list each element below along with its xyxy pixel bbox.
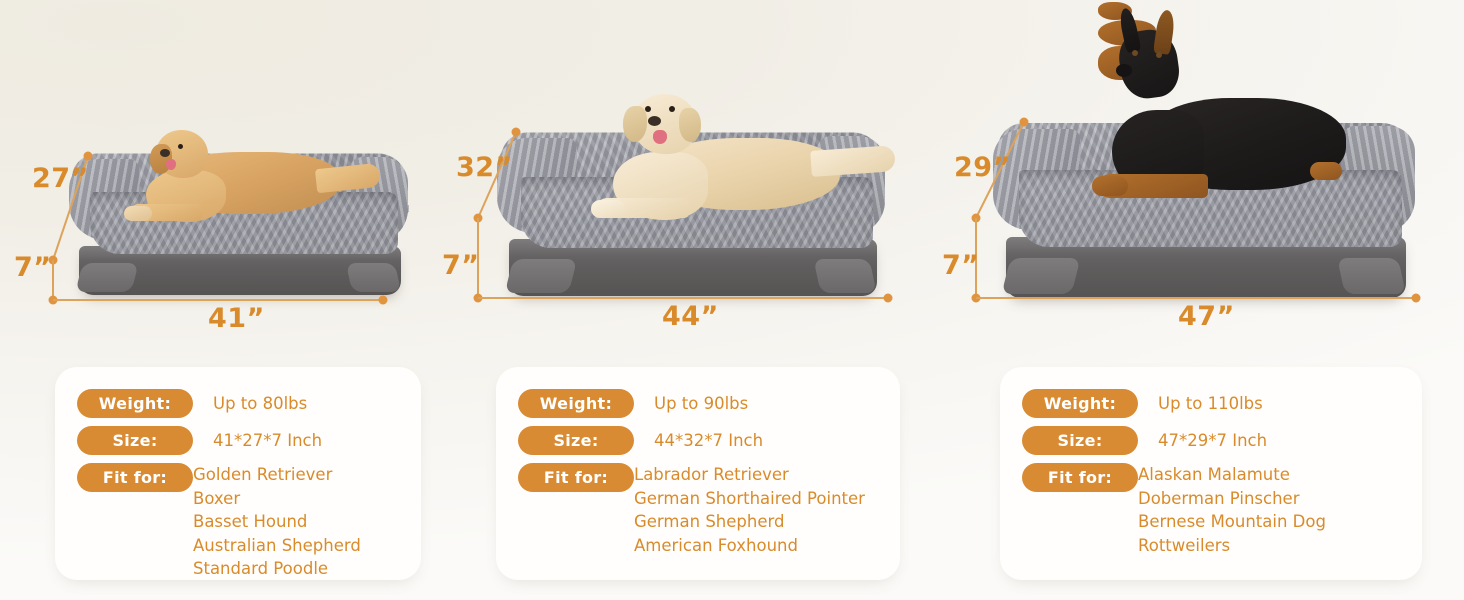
fit-for-row: Fit for: Labrador Retriever German Short… [518, 463, 890, 557]
weight-row: Weight: Up to 90lbs [518, 389, 890, 418]
dimension-label-height: 7” [942, 250, 980, 281]
breed-item: Doberman Pinscher [1138, 487, 1326, 511]
dog-rear-paw [1310, 162, 1342, 180]
bed-front-rim-left [75, 263, 138, 292]
bed-front-rim-left [1002, 258, 1081, 294]
dog-doberman-pinscher [1098, 2, 1388, 222]
size-value: 47*29*7 Inch [1158, 426, 1267, 453]
breed-item: Golden Retriever [193, 463, 361, 487]
width-line [53, 299, 383, 301]
breed-item: Standard Poodle [193, 557, 361, 581]
dimension-label-height: 7” [14, 252, 52, 283]
width-line [478, 297, 888, 299]
dimension-dot-width-right [379, 296, 388, 305]
product-size-infographic: 27” 7” 41” [0, 0, 1464, 600]
size-pill-label: Size: [1022, 426, 1138, 455]
dog-eye-left [645, 106, 651, 112]
breed-item: American Foxhound [634, 534, 865, 558]
breed-item: Alaskan Malamute [1138, 463, 1326, 487]
dimension-label-height: 7” [442, 250, 480, 281]
weight-pill-label: Weight: [1022, 389, 1138, 418]
product-panel-xlarge: 32” 7” 44” [440, 0, 940, 350]
fit-for-row: Fit for: Alaskan Malamute Doberman Pinsc… [1022, 463, 1412, 557]
dog-nose [1116, 64, 1132, 77]
fit-for-pill-label: Fit for: [77, 463, 193, 492]
breed-item: Labrador Retriever [634, 463, 865, 487]
dog-paw [124, 206, 152, 221]
weight-value: Up to 80lbs [213, 389, 307, 416]
height-line [477, 218, 479, 298]
dog-tongue [166, 159, 176, 170]
fit-for-pill-label: Fit for: [518, 463, 634, 492]
info-card-xlarge: Weight: Up to 90lbs Size: 44*32*7 Inch F… [496, 367, 900, 580]
info-card-large: Weight: Up to 80lbs Size: 41*27*7 Inch F… [55, 367, 421, 580]
breed-item: Australian Shepherd [193, 534, 361, 558]
bed-front-rim-left [505, 259, 577, 293]
dimension-dot-height-bottom [49, 296, 58, 305]
weight-value: Up to 110lbs [1158, 389, 1263, 416]
dog-paw [1092, 176, 1128, 196]
product-panel-jumbo: 29” 7” 47” [940, 0, 1464, 350]
dimension-dot-height-bottom [474, 294, 483, 303]
weight-pill-label: Weight: [77, 389, 193, 418]
dog-eye [178, 144, 183, 149]
weight-row: Weight: Up to 80lbs [77, 389, 411, 418]
breed-list: Alaskan Malamute Doberman Pinscher Berne… [1138, 463, 1326, 557]
bed-front-rim-right [813, 259, 876, 293]
dog-tail [810, 145, 896, 177]
dog-golden-retriever [120, 122, 370, 232]
height-line [975, 218, 977, 298]
dog-ear-right [679, 108, 701, 142]
bed-front-rim-right [345, 263, 400, 292]
info-card-jumbo: Weight: Up to 110lbs Size: 47*29*7 Inch … [1000, 367, 1422, 580]
dimension-dot-corner [49, 256, 58, 265]
breed-item: German Shepherd [634, 510, 865, 534]
size-row: Size: 47*29*7 Inch [1022, 426, 1412, 455]
size-value: 44*32*7 Inch [654, 426, 763, 453]
breed-item: German Shorthaired Pointer [634, 487, 865, 511]
fit-for-pill-label: Fit for: [1022, 463, 1138, 492]
size-row: Size: 41*27*7 Inch [77, 426, 411, 455]
breed-item: Basset Hound [193, 510, 361, 534]
dog-paw [591, 200, 625, 218]
dimension-label-width: 47” [1178, 301, 1235, 332]
weight-row: Weight: Up to 110lbs [1022, 389, 1412, 418]
breed-list: Labrador Retriever German Shorthaired Po… [634, 463, 865, 557]
dog-cream-golden-retriever [595, 86, 895, 236]
breed-item: Boxer [193, 487, 361, 511]
dimension-label-width: 44” [662, 301, 719, 332]
dog-eye-left [1132, 50, 1138, 56]
dimension-dot-corner [474, 214, 483, 223]
weight-value: Up to 90lbs [654, 389, 748, 416]
breed-item: Rottweilers [1138, 534, 1326, 558]
dog-nose [648, 116, 661, 126]
dog-eye-right [669, 106, 675, 112]
dog-eye-right [1156, 52, 1162, 58]
fit-for-row: Fit for: Golden Retriever Boxer Basset H… [77, 463, 411, 581]
product-panel-large: 27” 7” 41” [0, 0, 470, 350]
size-value: 41*27*7 Inch [213, 426, 322, 453]
size-row: Size: 44*32*7 Inch [518, 426, 890, 455]
weight-pill-label: Weight: [518, 389, 634, 418]
breed-list: Golden Retriever Boxer Basset Hound Aust… [193, 463, 361, 581]
dog-nose [160, 149, 170, 157]
size-pill-label: Size: [77, 426, 193, 455]
size-pill-label: Size: [518, 426, 634, 455]
height-line [52, 260, 54, 300]
dimension-label-width: 41” [208, 303, 265, 334]
bed-front-rim-right [1337, 258, 1406, 294]
dog-tongue [653, 130, 667, 144]
breed-item: Bernese Mountain Dog [1138, 510, 1326, 534]
